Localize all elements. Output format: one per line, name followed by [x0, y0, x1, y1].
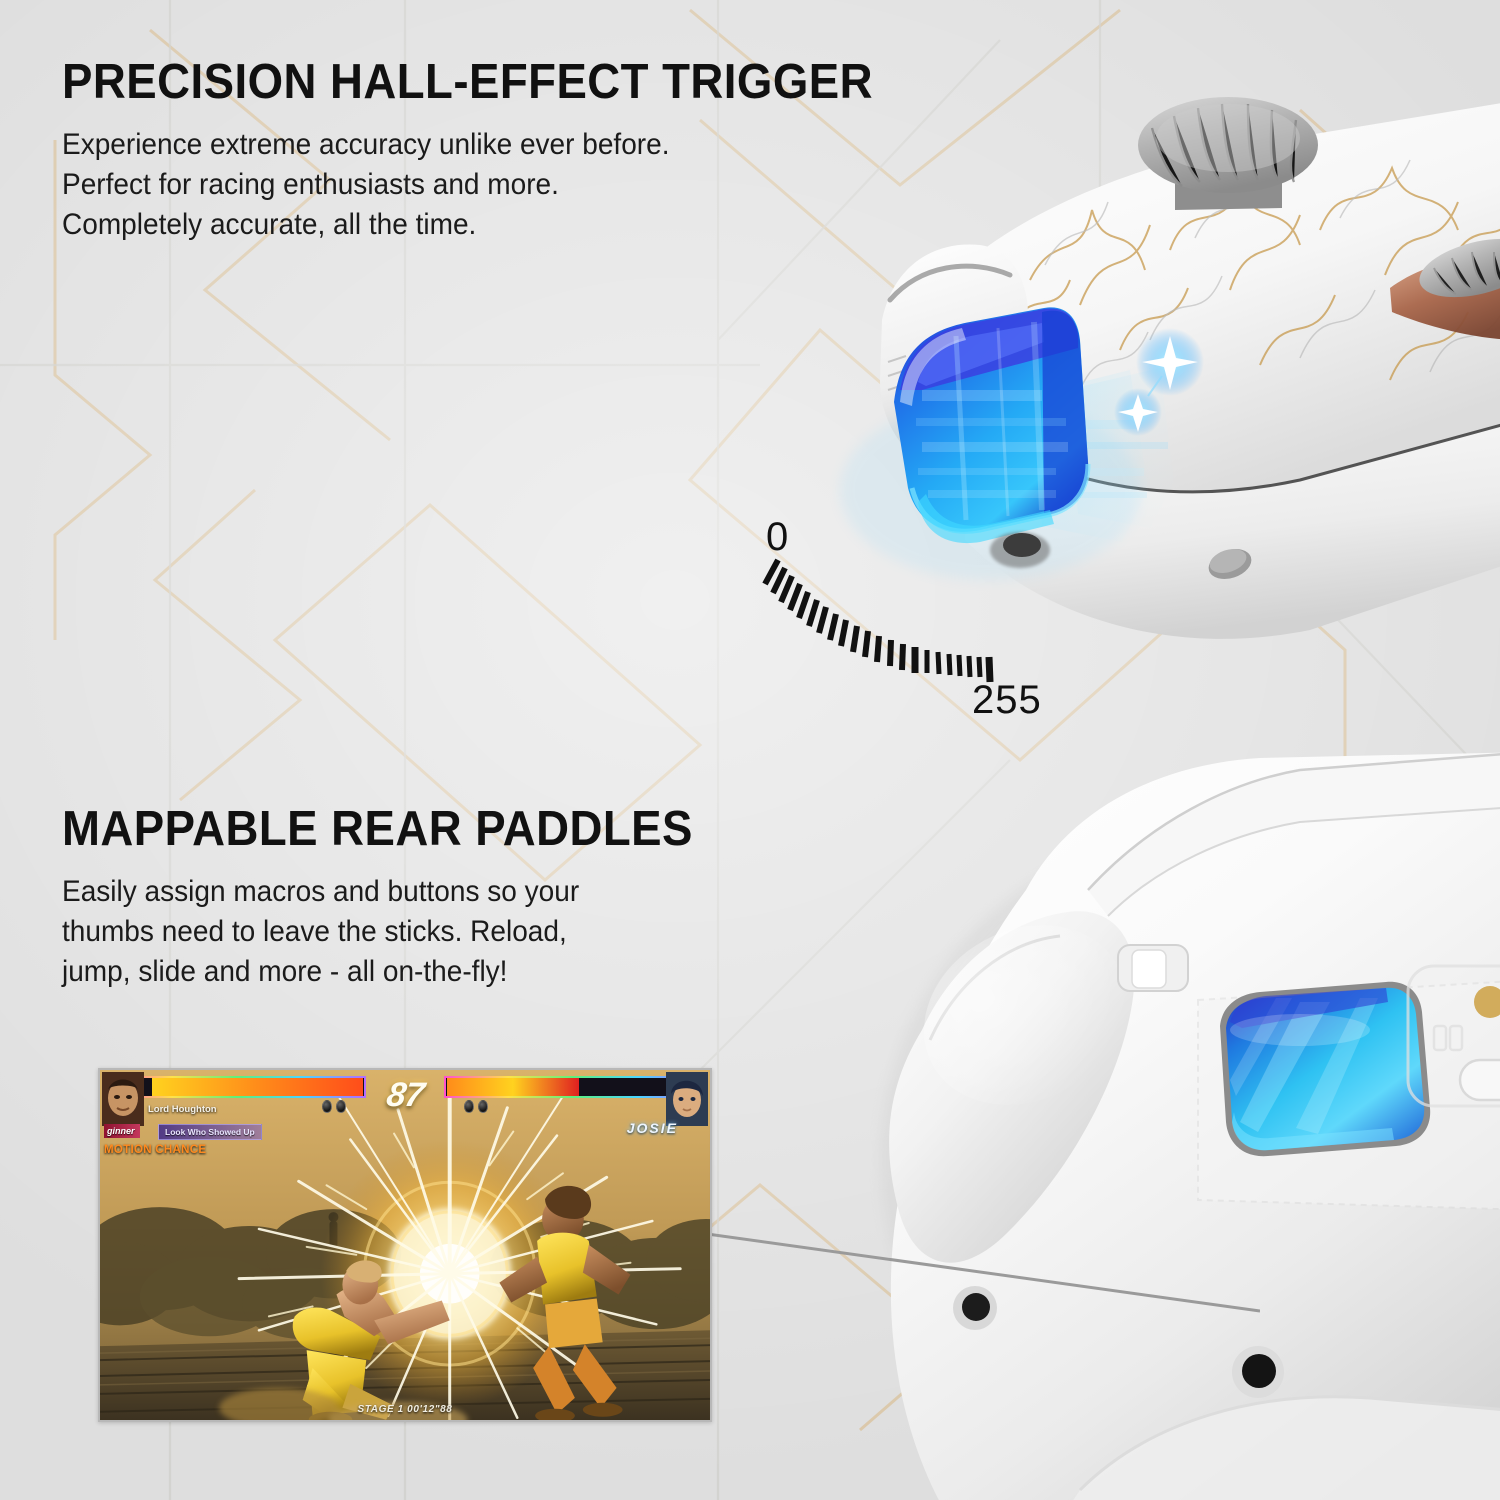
- feature-body-line: Completely accurate, all the time.: [62, 205, 890, 245]
- trigger-scale-min-label: 0: [766, 515, 789, 560]
- feature-title-paddles: MAPPABLE REAR PADDLES: [62, 805, 693, 855]
- trigger-scale-max-label: 255: [972, 678, 1042, 723]
- feature-body-line: Experience extreme accuracy unlike ever …: [62, 125, 890, 165]
- feature-body-line: Perfect for racing enthusiasts and more.: [62, 165, 890, 205]
- feature-body-line: jump, slide and more - all on-the-fly!: [62, 952, 706, 992]
- feature-body-trigger: Experience extreme accuracy unlike ever …: [62, 125, 890, 245]
- stage-timer-label: STAGE 1 00'12"88: [358, 1404, 453, 1415]
- health-bar-left: [108, 1076, 366, 1098]
- promotion-chance-label: MOTION CHANCE: [104, 1144, 206, 1156]
- feature-title-trigger: PRECISION HALL-EFFECT TRIGGER: [62, 58, 873, 108]
- player-left-rank-badge: ginner: [104, 1124, 140, 1138]
- player-left-name: Lord Houghton: [148, 1104, 217, 1115]
- player-right-name: JOSIE: [627, 1120, 678, 1136]
- player-right-portrait: [666, 1072, 708, 1126]
- player-left-title-badge: Look Who Showed Up: [158, 1124, 262, 1140]
- feature-body-line: Easily assign macros and buttons so your: [62, 872, 706, 912]
- game-screenshot-thumbnail: 87 Lord Houghton ginner Look Who Showed …: [98, 1068, 712, 1422]
- player-left-portrait: [102, 1072, 144, 1126]
- callout-connector-line: [700, 1225, 1260, 1335]
- feature-block-rear-paddles: MAPPABLE REAR PADDLES Easily assign macr…: [62, 805, 740, 992]
- match-timer: 87: [384, 1076, 426, 1115]
- controller-rear-paddle-illustration: [830, 730, 1500, 1500]
- feature-body-line: thumbs need to leave the sticks. Reload,: [62, 912, 706, 952]
- feature-body-paddles: Easily assign macros and buttons so your…: [62, 872, 706, 992]
- health-bar-left-fill: [152, 1078, 363, 1096]
- feature-block-hall-effect-trigger: PRECISION HALL-EFFECT TRIGGER Experience…: [62, 58, 934, 245]
- health-bar-right-fill: [447, 1078, 579, 1096]
- rage-orb: [478, 1100, 488, 1113]
- game-scene-art: [100, 1070, 710, 1422]
- rage-orb: [336, 1100, 346, 1113]
- health-bar-right: [444, 1076, 702, 1098]
- rage-orb: [322, 1100, 332, 1113]
- rage-orb: [464, 1100, 474, 1113]
